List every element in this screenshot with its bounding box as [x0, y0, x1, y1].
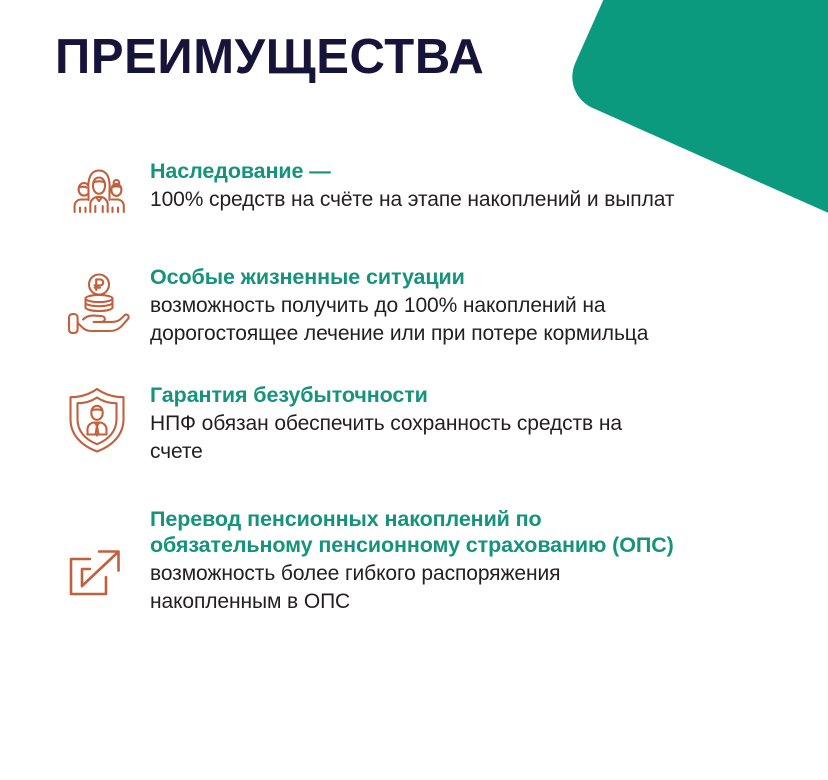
feature-item-transfer-ops: Перевод пенсионных накоплений по обязате… — [0, 504, 828, 616]
feature-body: возможность получить до 100% накоплений … — [150, 292, 680, 348]
feature-body: возможность более гибкого распоряжения н… — [150, 560, 680, 616]
feature-text-special-situations: Особые жизненные ситуации возможность по… — [150, 262, 680, 348]
feature-item-inheritance: Наследование — 100% средств на счёте на … — [0, 156, 828, 220]
feature-text-transfer-ops: Перевод пенсионных накоплений по обязате… — [150, 504, 680, 616]
family-group-icon — [66, 156, 150, 220]
feature-text-guarantee: Гарантия безубыточности НПФ обязан обесп… — [150, 380, 680, 466]
feature-heading: Гарантия безубыточности — [150, 382, 680, 408]
feature-text-inheritance: Наследование — 100% средств на счёте на … — [150, 156, 674, 214]
feature-heading: Особые жизненные ситуации — [150, 264, 680, 290]
feature-heading: Перевод пенсионных накоплений по обязате… — [150, 506, 680, 558]
export-arrow-icon — [66, 504, 150, 601]
feature-item-special-situations: Особые жизненные ситуации возможность по… — [0, 262, 828, 348]
feature-item-guarantee: Гарантия безубыточности НПФ обязан обесп… — [0, 380, 828, 466]
feature-body: 100% средств на счёте на этапе накоплени… — [150, 186, 674, 214]
features-list: Наследование — 100% средств на счёте на … — [0, 156, 828, 616]
hand-holding-coins-ruble-icon — [66, 262, 150, 334]
page-title: ПРЕИМУЩЕСТВА — [55, 28, 484, 86]
shield-person-icon — [66, 380, 150, 454]
feature-heading: Наследование — — [150, 158, 674, 184]
feature-body: НПФ обязан обеспечить сохранность средст… — [150, 410, 680, 466]
